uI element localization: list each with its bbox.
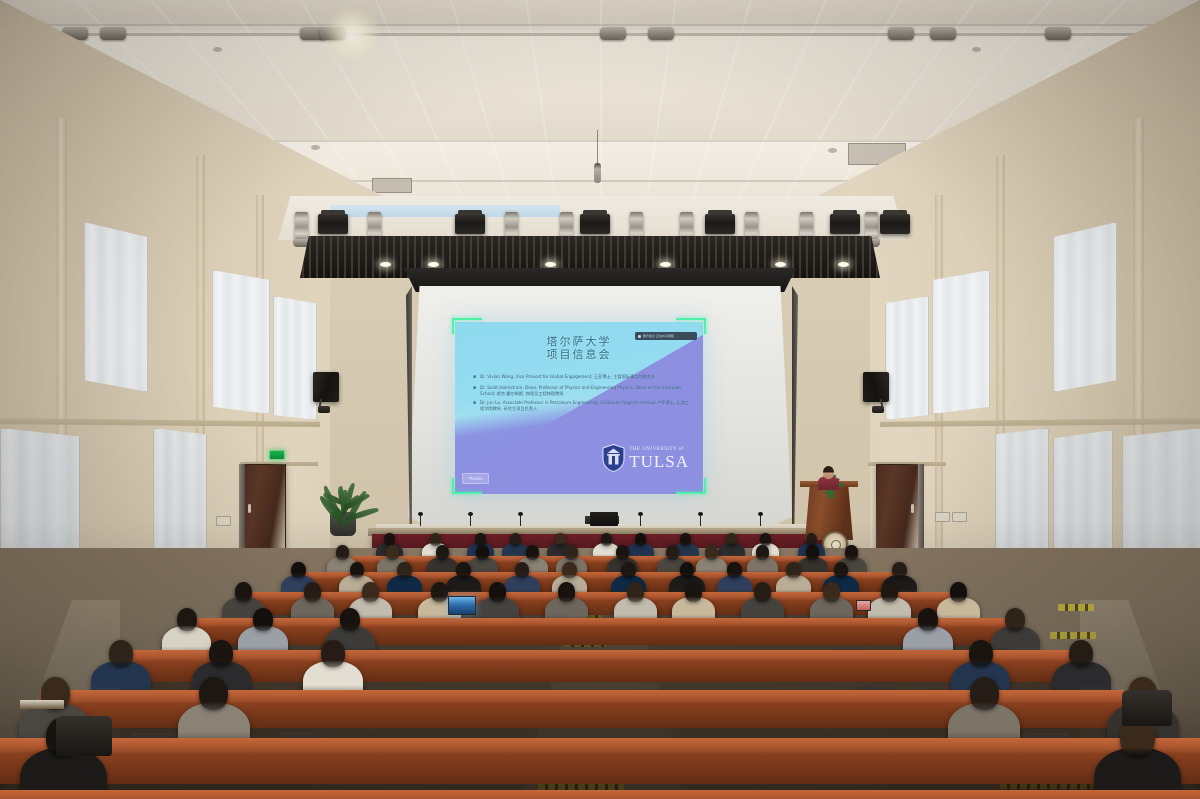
audience-head	[456, 562, 471, 579]
soffit-downlight	[775, 262, 786, 267]
desk-surface	[0, 738, 1200, 753]
wall-outlet[interactable]	[935, 512, 950, 522]
light-bar-skylight-slot	[330, 205, 560, 217]
audience-head	[431, 582, 448, 602]
audience-head	[209, 640, 233, 668]
audience-head	[918, 608, 938, 631]
ceiling-track-light	[930, 27, 956, 40]
smoke-detector-icon	[972, 47, 981, 52]
audience-bag	[1122, 690, 1172, 726]
tulsa-logo-main-text: TULSA	[629, 453, 689, 470]
audience-head	[754, 582, 771, 602]
tulsa-shield-icon	[602, 444, 625, 472]
audience-head	[627, 582, 644, 602]
soffit-downlight	[380, 262, 391, 267]
door-gap-left	[239, 464, 245, 550]
soffit-downlight	[660, 262, 671, 267]
audience-head	[177, 608, 197, 631]
audience-head	[756, 545, 769, 560]
audience-head	[340, 608, 360, 631]
desk-book	[20, 700, 64, 709]
audience-head	[1069, 640, 1093, 668]
audience-head	[475, 533, 486, 546]
wall-speaker	[313, 372, 339, 402]
slide-bullet-list: ■ Dr. Vivian Wang, Vice Provost for Glob…	[473, 374, 691, 415]
audience-head	[806, 545, 819, 560]
recording-dot-icon	[638, 335, 641, 338]
audience-head	[304, 582, 321, 602]
bullet-dot-icon: ■	[473, 400, 476, 411]
audience-head	[397, 562, 412, 579]
desk-surface	[188, 618, 1012, 627]
audience-head	[601, 533, 612, 546]
audience-head	[635, 533, 646, 546]
stage-microphone-head	[698, 512, 703, 516]
wall-outlet[interactable]	[952, 512, 967, 522]
desk-surface	[120, 650, 1080, 661]
audience-head	[558, 582, 575, 602]
exit-sign	[269, 450, 285, 460]
desk-front-panel	[0, 753, 1200, 784]
stage-microphone-head	[638, 512, 643, 516]
audience-head	[430, 533, 441, 546]
acoustic-wall-panel	[885, 296, 929, 420]
tulsa-logo-top-text: THE UNIVERSITY of	[629, 447, 689, 452]
stage-light-fixture	[705, 214, 735, 234]
audience-head	[892, 562, 907, 579]
desk-surface	[0, 790, 1200, 799]
aisle-safety-tape	[1058, 604, 1094, 611]
wall-camera	[318, 406, 330, 413]
audience-head	[476, 545, 489, 560]
desk-front-panel	[120, 661, 1080, 683]
desk-front-panel	[188, 627, 1012, 645]
slide-bullet-item: ■ Dr. Scott Holmstrom, Dean, Professor o…	[473, 385, 691, 396]
audience-head	[823, 582, 840, 602]
desk-surface	[300, 572, 900, 579]
audience-head	[666, 545, 679, 560]
slide-bullet-text: Dr. Vivian Wang, Vice Provost for Global…	[480, 374, 655, 381]
stage-microphone-head	[758, 512, 763, 516]
audience-head	[321, 640, 345, 668]
wall-outlet[interactable]	[216, 516, 231, 526]
acoustic-wall-panel	[1053, 222, 1117, 392]
slide-bullet-item: ■ Dr. Jun Lu, Associate Professor in Pet…	[473, 400, 691, 411]
audience-head	[970, 677, 999, 711]
stage-light-fixture	[455, 214, 485, 234]
audience-head	[616, 545, 629, 560]
hanging-microphone-wire	[597, 130, 598, 165]
audience-head	[760, 533, 771, 546]
wall-speaker	[863, 372, 889, 402]
wall-camera	[872, 406, 884, 413]
audience-head	[705, 545, 718, 560]
audience-head	[950, 582, 967, 602]
stage-light-fixture	[880, 214, 910, 234]
ceiling-track-light	[1045, 27, 1071, 40]
stage-light-fixture	[318, 214, 348, 234]
audience-head	[109, 640, 133, 668]
ceiling-track-light	[600, 27, 626, 40]
audience-head	[336, 545, 349, 560]
slide-title-line-2: 项目信息会	[455, 348, 703, 361]
soffit-downlight	[838, 262, 849, 267]
audience-head	[515, 562, 530, 579]
lecture-hall-scene: 塔尔萨大学 项目信息会 ■ Dr. Vivian Wang, Vice Prov…	[0, 0, 1200, 799]
aisle-safety-tape	[1050, 632, 1096, 639]
audience-head	[565, 545, 578, 560]
screen-share-widget-label: 腾讯会议 正在共享屏幕	[643, 334, 674, 338]
audience-head	[834, 562, 849, 579]
audience-head	[510, 533, 521, 546]
soffit-downlight	[545, 262, 556, 267]
ceiling-track-light	[100, 27, 126, 40]
audience-head	[845, 545, 858, 560]
screen-share-widget[interactable]: 腾讯会议 正在共享屏幕	[635, 332, 697, 340]
tulsa-logo: THE UNIVERSITY of TULSA	[602, 444, 689, 472]
soffit-downlight	[428, 262, 439, 267]
audience-head	[726, 533, 737, 546]
stage-monitor	[590, 512, 618, 526]
audience-laptop	[448, 596, 476, 615]
audience-head	[436, 545, 449, 560]
ceiling-access-hatch	[372, 178, 412, 193]
stage-microphone-head	[468, 512, 473, 516]
hanging-microphone	[594, 163, 601, 183]
audience-head	[291, 562, 306, 579]
audience-head	[199, 677, 228, 711]
acoustic-wall-panel	[84, 222, 148, 392]
audience-phone	[856, 600, 871, 611]
audience-head	[727, 562, 742, 579]
ceiling-track-light	[648, 27, 674, 40]
slide-bullet-text: Dr. Scott Holmstrom, Dean, Professor of …	[480, 385, 691, 396]
audience-head	[526, 545, 539, 560]
door-gap-right	[918, 464, 924, 550]
bullet-dot-icon: ■	[473, 374, 476, 381]
audience-head	[555, 533, 566, 546]
door-handle-left[interactable]	[248, 504, 251, 513]
audience-head	[969, 640, 993, 668]
smoke-detector-icon	[213, 47, 222, 52]
audience-head	[386, 545, 399, 560]
audience-head	[685, 582, 702, 602]
audience-head	[489, 582, 506, 602]
acoustic-wall-panel	[273, 296, 317, 420]
audience-bag	[56, 716, 112, 756]
slide-badge: Thanks	[462, 473, 489, 484]
audience-head	[806, 533, 817, 546]
smoke-detector-icon	[311, 145, 320, 150]
audience-head	[562, 562, 577, 579]
slide-bullet-item: ■ Dr. Vivian Wang, Vice Provost for Glob…	[473, 374, 691, 381]
audience-head	[786, 562, 801, 579]
tulsa-logo-text: THE UNIVERSITY of TULSA	[629, 447, 689, 470]
audience-head	[680, 533, 691, 546]
audience-head	[235, 582, 252, 602]
projected-slide: 塔尔萨大学 项目信息会 ■ Dr. Vivian Wang, Vice Prov…	[455, 322, 703, 494]
audience-head	[621, 562, 636, 579]
acoustic-wall-panel	[932, 270, 990, 414]
audience-head	[881, 582, 898, 602]
ceiling-light-glow	[323, 8, 381, 60]
ceiling-track-light	[888, 27, 914, 40]
audience-head	[362, 582, 379, 602]
slide-bullet-text: Dr. Jun Lu, Associate Professor in Petro…	[480, 400, 691, 411]
stage-light-fixture	[830, 214, 860, 234]
bullet-dot-icon: ■	[473, 385, 476, 396]
stage-microphone-head	[418, 512, 423, 516]
door-handle-right[interactable]	[911, 504, 914, 513]
acoustic-wall-panel	[212, 270, 270, 414]
presenter-head	[823, 466, 834, 479]
desk-surface	[250, 592, 950, 600]
stage-microphone-head	[518, 512, 523, 516]
smoke-detector-icon	[828, 148, 837, 153]
audience-head	[384, 533, 395, 546]
stage-light-fixture	[580, 214, 610, 234]
audience-head	[1005, 608, 1025, 631]
stage-spotlight	[295, 212, 308, 242]
audience-head	[253, 608, 273, 631]
audience-head	[350, 562, 365, 579]
audience-head	[680, 562, 695, 579]
